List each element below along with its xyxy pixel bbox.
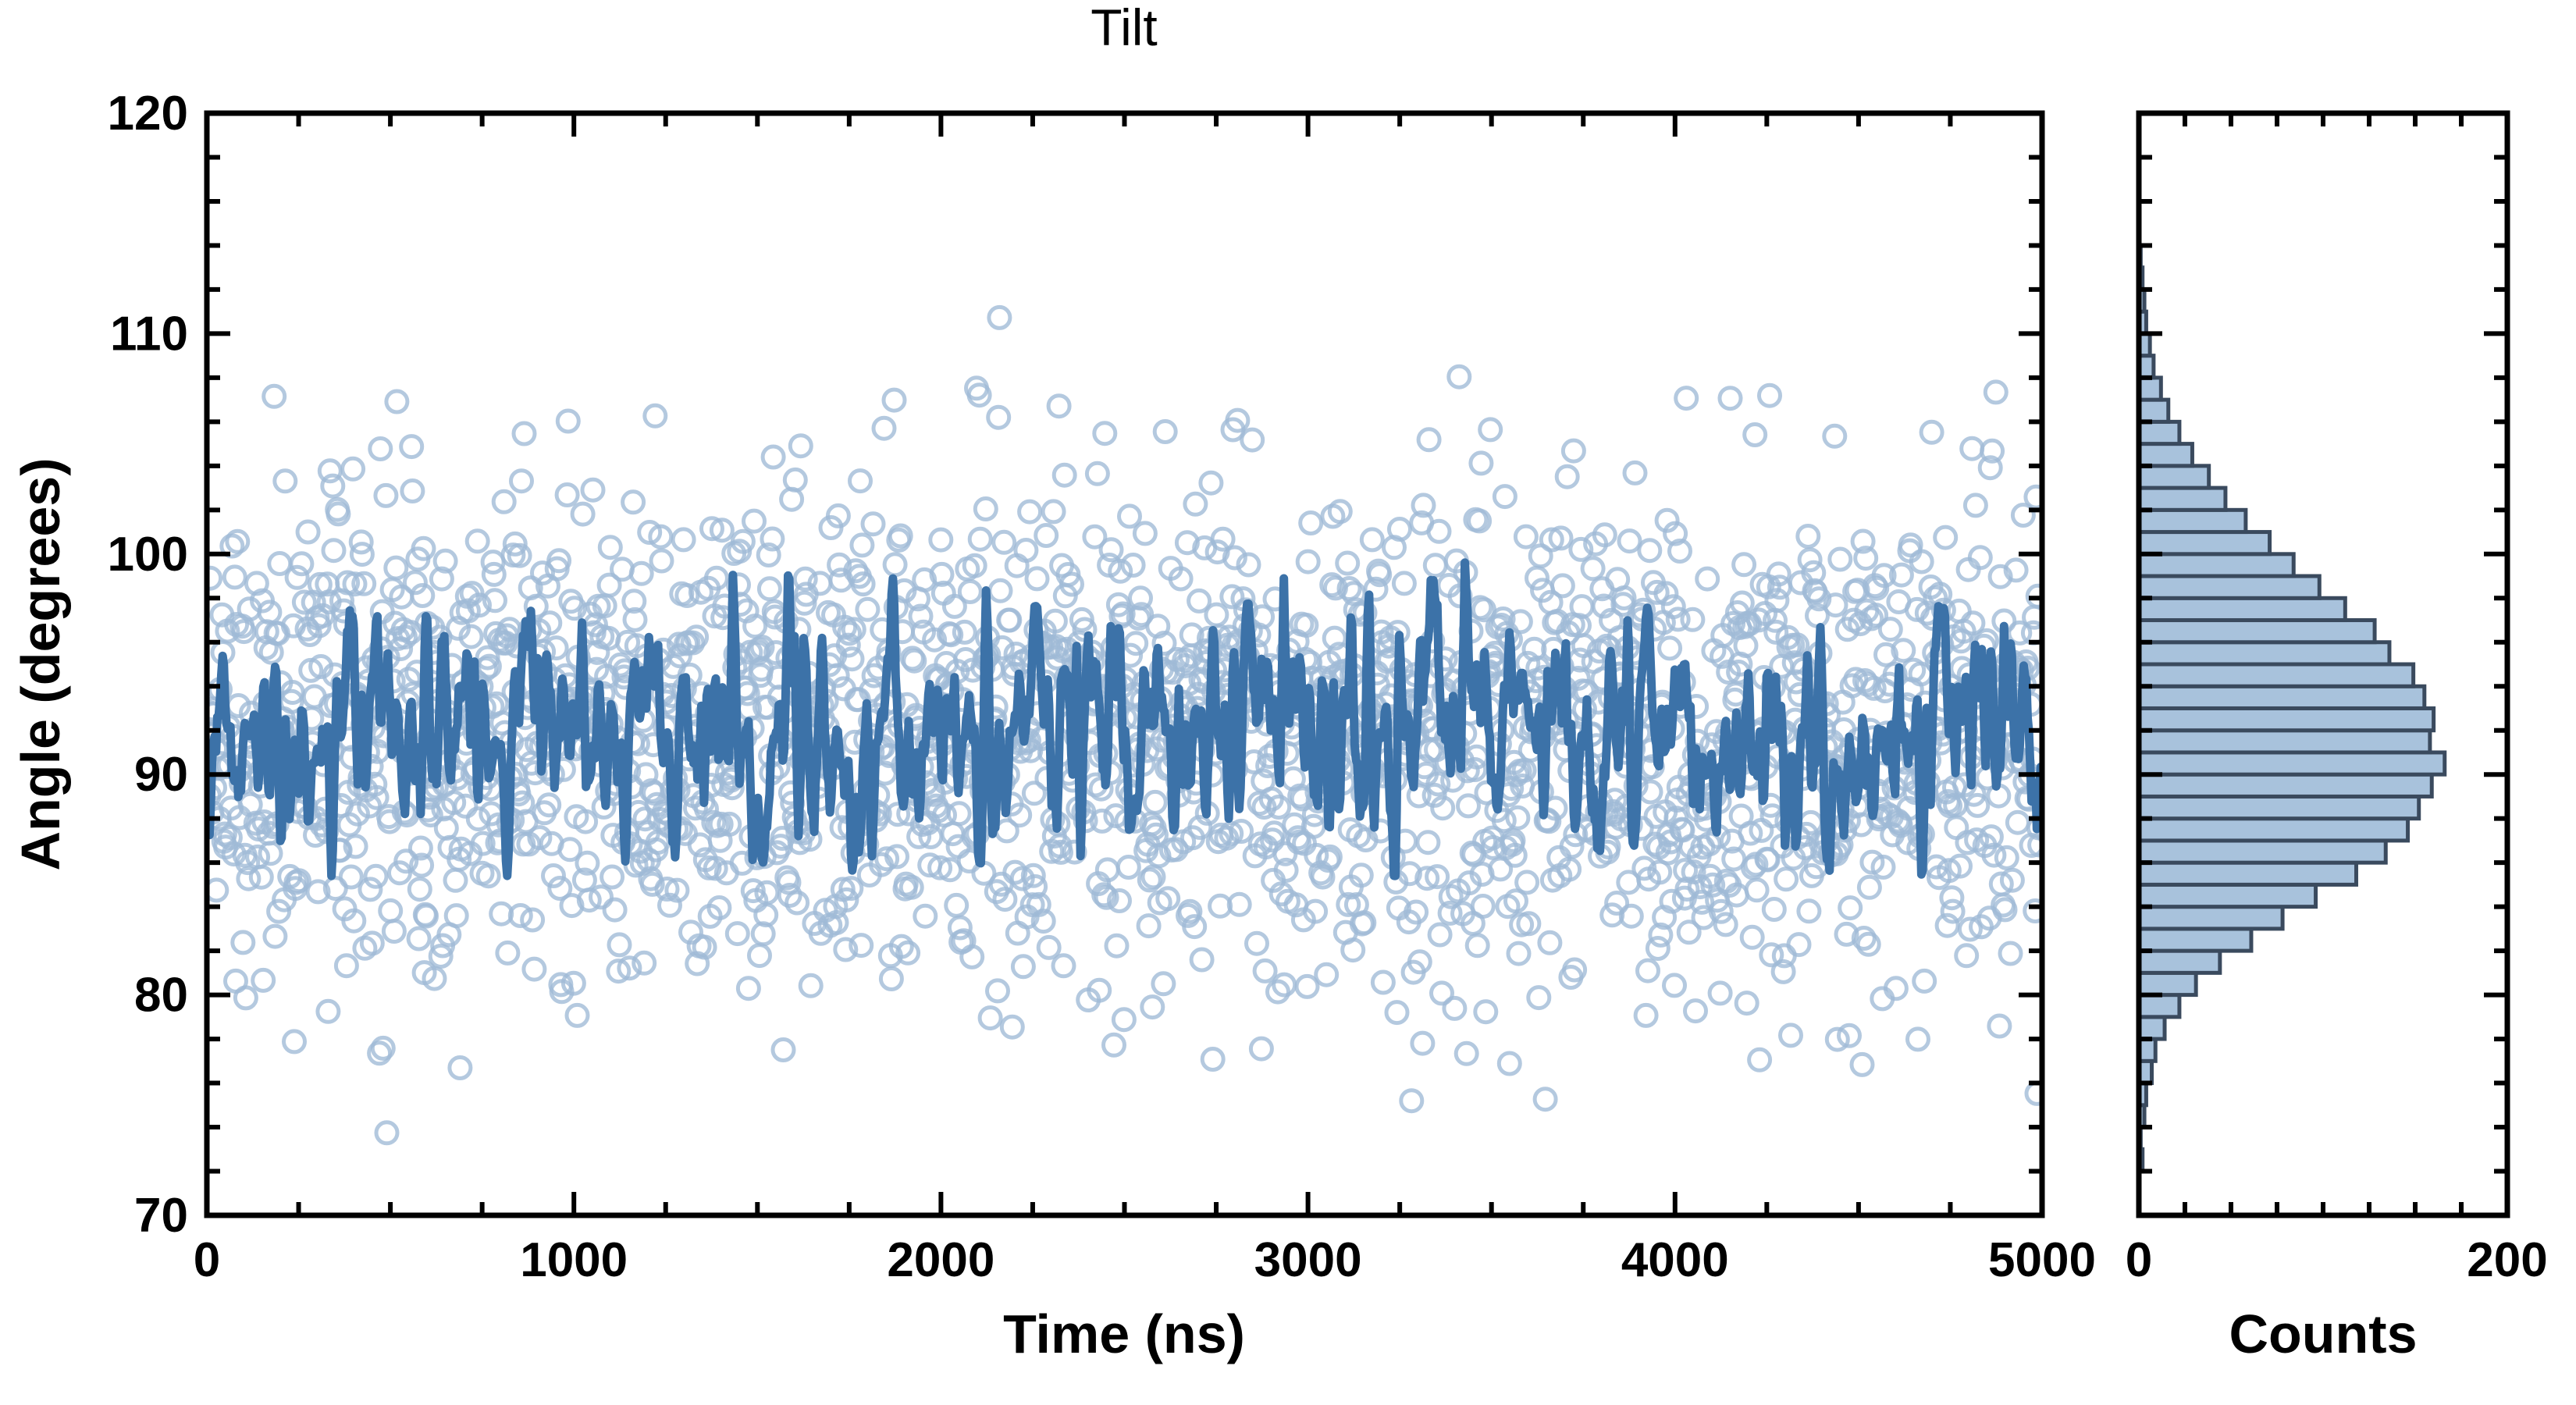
x-axis-title: Time (ns) — [1003, 1304, 1245, 1364]
histogram-bar — [2139, 774, 2432, 796]
x-tick-label: 2000 — [887, 1233, 994, 1287]
histogram-bar — [2139, 752, 2445, 774]
histogram-bar — [2139, 466, 2209, 488]
histogram-x-tick-label: 200 — [2467, 1233, 2547, 1287]
histogram-bar — [2139, 400, 2169, 421]
y-tick-label: 90 — [134, 748, 188, 802]
y-axis-title: Angle (degrees) — [10, 458, 71, 871]
x-tick-label: 5000 — [1988, 1233, 2096, 1287]
histogram-bar — [2139, 532, 2270, 554]
histogram-bar — [2139, 907, 2282, 929]
histogram-bar — [2139, 929, 2251, 951]
chart-title: Tilt — [1091, 0, 1158, 56]
tilt-chart-svg: Tilt 010002000300040005000 7080901001101… — [0, 0, 2576, 1405]
histogram-bar — [2139, 554, 2293, 576]
histogram-bar — [2139, 731, 2430, 752]
y-tick-label: 100 — [108, 528, 188, 582]
histogram-bar — [2139, 973, 2196, 994]
histogram-x-tick-label: 0 — [2126, 1233, 2152, 1287]
x-tick-label: 1000 — [520, 1233, 628, 1287]
histogram-bar — [2139, 576, 2319, 598]
histogram-bar — [2139, 378, 2161, 400]
chart-figure: Tilt 010002000300040005000 7080901001101… — [0, 0, 2576, 1405]
x-tick-label: 4000 — [1621, 1233, 1729, 1287]
histogram-bar — [2139, 951, 2220, 973]
x-tick-label: 0 — [194, 1233, 220, 1287]
histogram-bar — [2139, 819, 2408, 841]
histogram-bar — [2139, 686, 2425, 708]
histogram-x-axis-title: Counts — [2229, 1304, 2417, 1364]
histogram-bar — [2139, 598, 2345, 620]
histogram-bar — [2139, 863, 2356, 884]
x-tick-label: 3000 — [1254, 1233, 1362, 1287]
histogram-bar — [2139, 621, 2375, 642]
histogram-bar — [2139, 664, 2414, 686]
histogram-bar — [2139, 884, 2316, 906]
histogram-bar — [2139, 488, 2226, 510]
histogram-bar — [2139, 995, 2179, 1017]
y-tick-label: 70 — [134, 1189, 188, 1243]
histogram-bar — [2139, 1017, 2165, 1039]
histogram-bar — [2139, 642, 2389, 664]
histogram-bar — [2139, 444, 2192, 466]
histogram-bar — [2139, 421, 2179, 443]
y-tick-label: 80 — [134, 969, 188, 1023]
histogram-bar — [2139, 796, 2419, 818]
histogram-bar — [2139, 708, 2434, 730]
y-tick-label: 110 — [110, 307, 188, 361]
histogram-bar — [2139, 510, 2246, 532]
histogram-bar — [2139, 841, 2386, 863]
y-tick-label: 120 — [108, 87, 188, 140]
